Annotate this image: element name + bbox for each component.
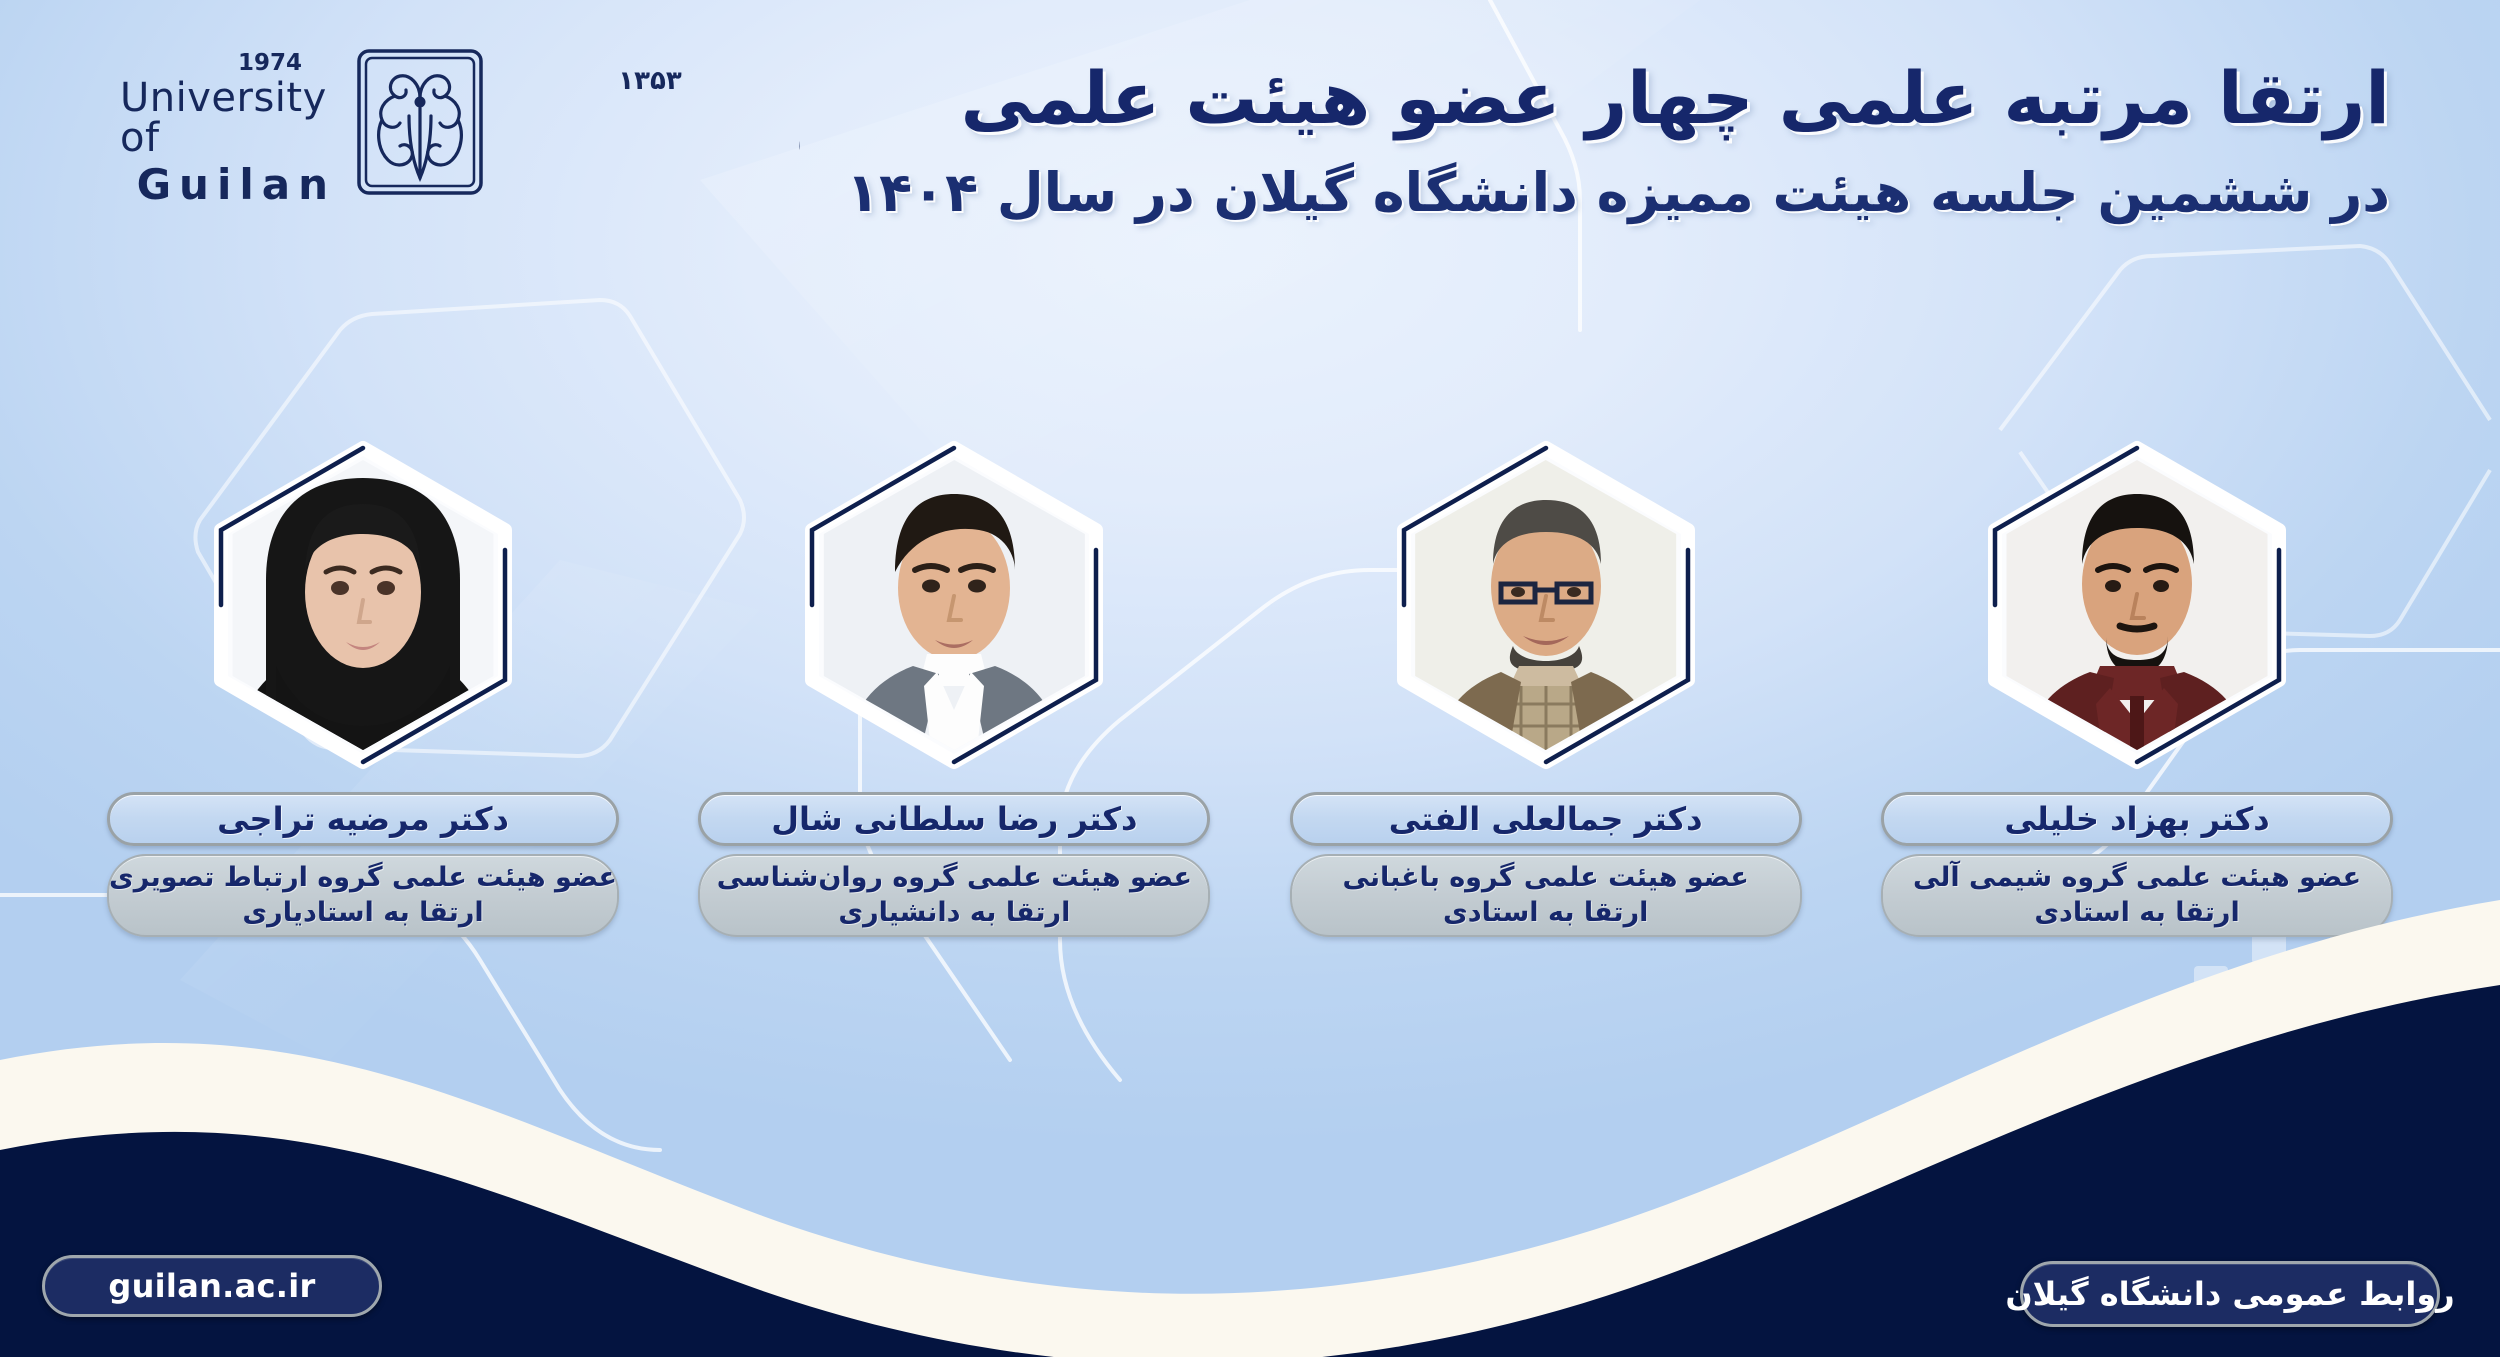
footer-wave [0, 0, 2500, 1357]
poster-canvas: 1974 University of Guilan دانشگاه گیل [0, 0, 2500, 1357]
public-relations-label: روابط عمومی دانشگاه گیلان [2005, 1275, 2454, 1313]
public-relations-badge[interactable]: روابط عمومی دانشگاه گیلان [2020, 1261, 2440, 1327]
website-badge[interactable]: guilan.ac.ir [42, 1255, 382, 1317]
website-url: guilan.ac.ir [108, 1267, 315, 1305]
